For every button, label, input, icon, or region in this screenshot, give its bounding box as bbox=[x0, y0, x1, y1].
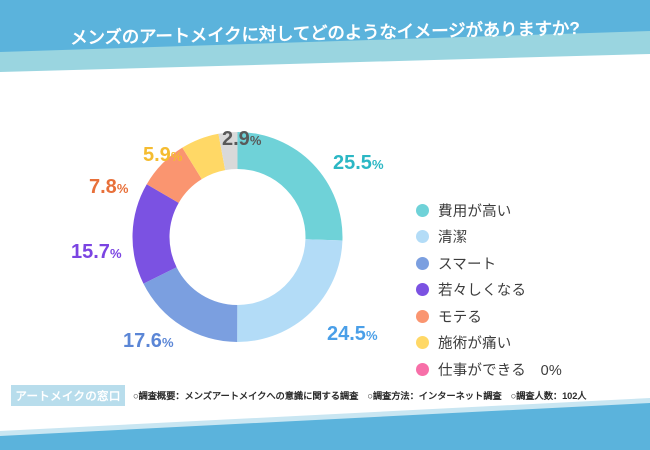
legend-item-label: 若々しくなる bbox=[438, 279, 526, 300]
legend-item[interactable]: 費用が高い bbox=[416, 197, 636, 224]
donut-value-number: 25.5 bbox=[333, 152, 372, 174]
donut-value-label: 25.5% bbox=[333, 153, 384, 173]
header-banner: メンズのアートメイクに対してどのようなイメージがありますか? bbox=[0, 0, 650, 72]
legend-color-swatch-icon bbox=[416, 257, 429, 270]
donut-value-percent-sign: % bbox=[117, 181, 129, 196]
donut-value-label: 17.6% bbox=[123, 331, 174, 351]
donut-slice[interactable] bbox=[133, 184, 179, 283]
brand-badge[interactable]: アートメイクの窓口 bbox=[11, 385, 125, 406]
donut-value-number: 17.6 bbox=[123, 330, 162, 352]
chart-area: 25.5%24.5%17.6%15.7%7.8%5.9%2.9% 費用が高い清潔… bbox=[0, 72, 650, 377]
legend-color-swatch-icon bbox=[416, 204, 429, 217]
donut-value-label: 15.7% bbox=[71, 242, 122, 262]
donut-value-label: 5.9% bbox=[143, 145, 182, 165]
survey-note: ○調査概要：メンズアートメイクへの意識に関する調査 bbox=[133, 391, 358, 401]
legend-item-label: モテる bbox=[438, 306, 482, 327]
donut-value-number: 7.8 bbox=[89, 176, 117, 198]
donut-value-percent-sign: % bbox=[250, 133, 262, 148]
donut-value-percent-sign: % bbox=[162, 335, 174, 350]
donut-value-percent-sign: % bbox=[366, 328, 378, 343]
brand-badge-label: アートメイクの窓口 bbox=[15, 388, 120, 404]
legend-color-swatch-icon bbox=[416, 363, 429, 376]
donut-value-number: 2.9 bbox=[222, 128, 250, 150]
donut-value-label: 7.8% bbox=[89, 177, 128, 197]
donut-value-label: 2.9% bbox=[222, 129, 261, 149]
legend-item[interactable]: 施術が痛い bbox=[416, 330, 636, 357]
survey-note: ○調査人数：102人 bbox=[511, 391, 587, 401]
legend-item[interactable]: スマート bbox=[416, 250, 636, 277]
donut-value-number: 5.9 bbox=[143, 144, 171, 166]
donut-value-number: 24.5 bbox=[327, 323, 366, 345]
footer-banner: アートメイクの窓口 ○調査概要：メンズアートメイクへの意識に関する調査○調査方法… bbox=[0, 377, 650, 450]
legend-color-swatch-icon bbox=[416, 230, 429, 243]
survey-note: ○調査方法：インターネット調査 bbox=[367, 391, 501, 401]
legend-item-label: 費用が高い bbox=[438, 200, 512, 221]
legend-item-label: 清潔 bbox=[438, 226, 467, 247]
survey-notes: ○調査概要：メンズアートメイクへの意識に関する調査○調査方法：インターネット調査… bbox=[133, 388, 587, 402]
legend-color-swatch-icon bbox=[416, 310, 429, 323]
legend-item[interactable]: 若々しくなる bbox=[416, 277, 636, 304]
donut-chart: 25.5%24.5%17.6%15.7%7.8%5.9%2.9% bbox=[105, 127, 370, 347]
donut-value-percent-sign: % bbox=[372, 157, 384, 172]
donut-value-percent-sign: % bbox=[171, 149, 183, 164]
legend-item-label: 施術が痛い bbox=[438, 332, 512, 353]
legend-color-swatch-icon bbox=[416, 336, 429, 349]
legend-item[interactable]: 清潔 bbox=[416, 224, 636, 251]
infographic-root: メンズのアートメイクに対してどのようなイメージがありますか? 25.5%24.5… bbox=[0, 0, 650, 450]
donut-value-percent-sign: % bbox=[110, 246, 122, 261]
donut-value-number: 15.7 bbox=[71, 241, 110, 263]
legend-item-label: スマート bbox=[438, 253, 496, 274]
donut-value-label: 24.5% bbox=[327, 324, 378, 344]
legend-item[interactable]: モテる bbox=[416, 303, 636, 330]
legend-color-swatch-icon bbox=[416, 283, 429, 296]
